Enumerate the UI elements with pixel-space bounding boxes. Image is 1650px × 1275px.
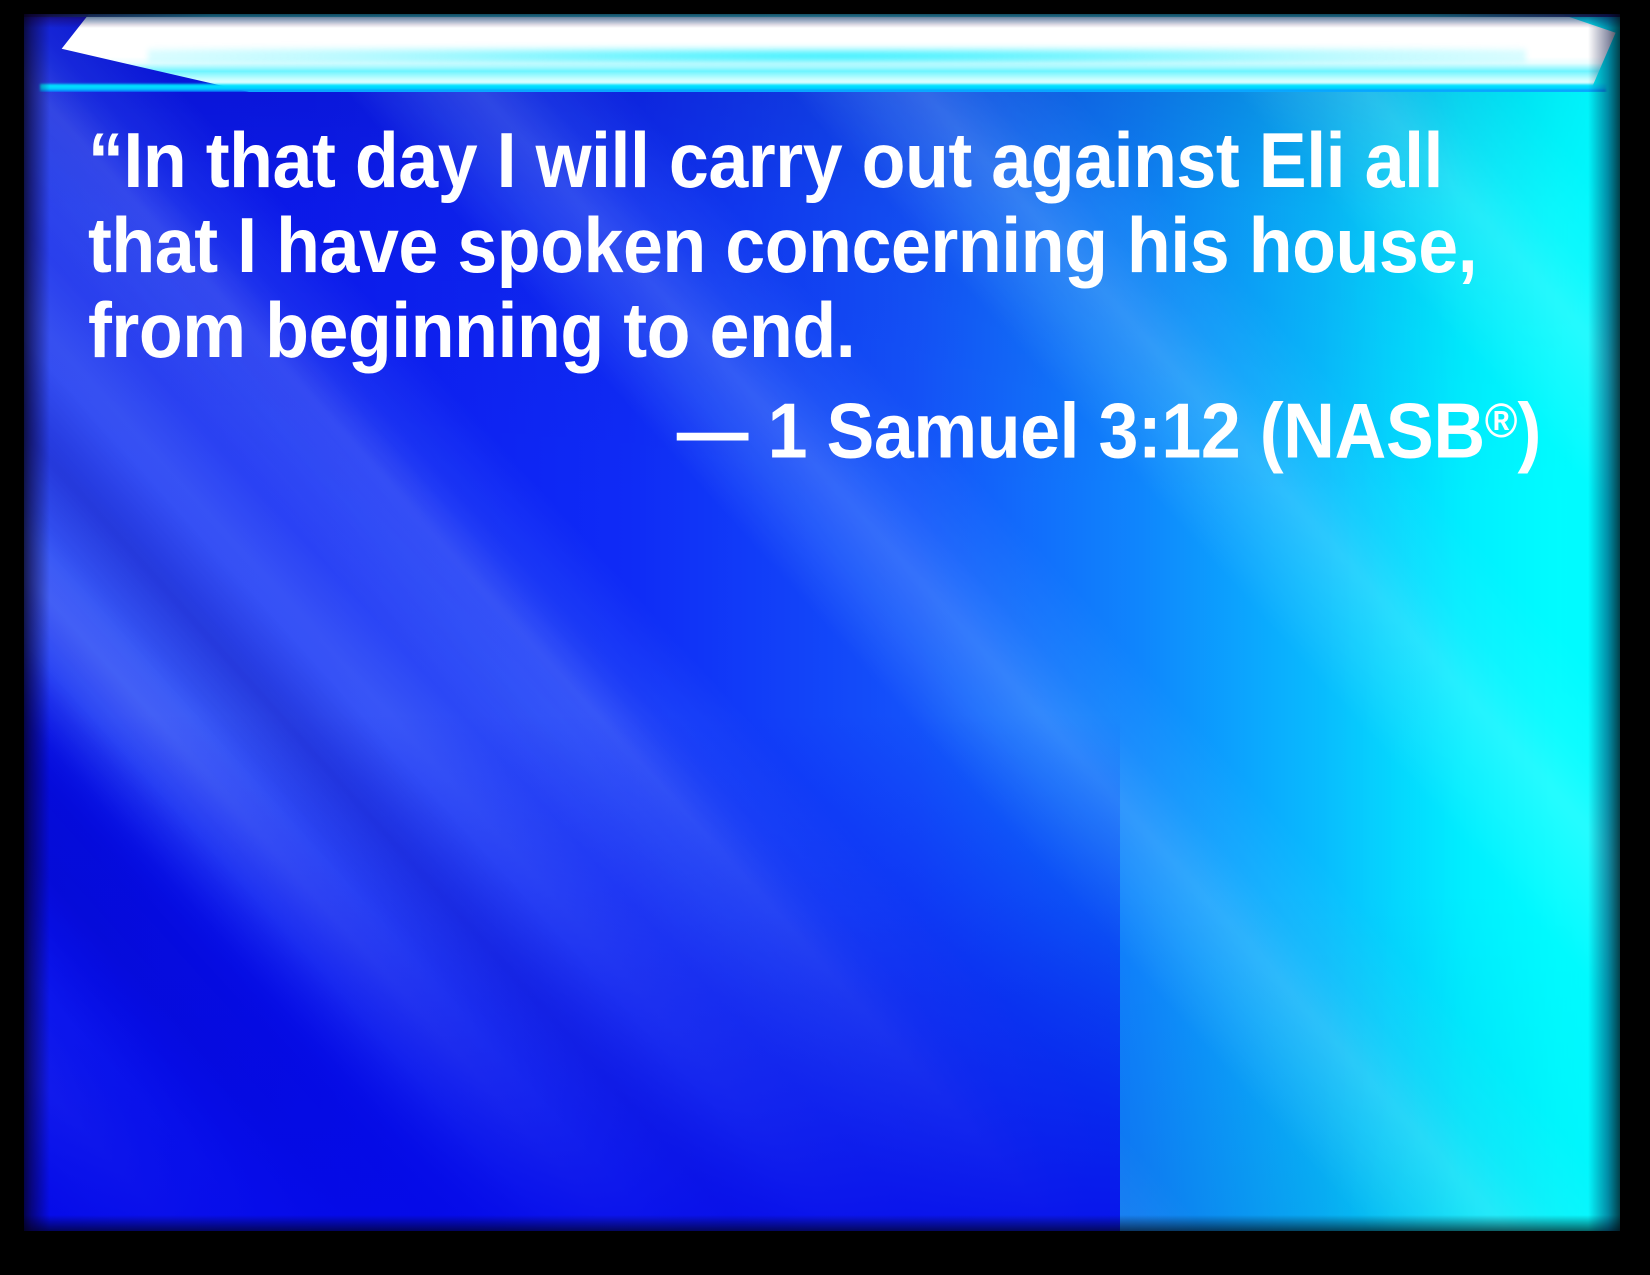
verse-attribution: — 1 Samuel 3:12 (NASB®) — [88, 379, 1422, 473]
frame-border-bottom — [0, 1231, 1650, 1275]
registered-trademark-icon: ® — [1485, 394, 1518, 448]
frame-border-right — [1620, 0, 1650, 1275]
scripture-slide: “In that day I will carry out against El… — [0, 0, 1650, 1275]
top-banner-top-edge — [20, 12, 1622, 17]
verse-line-3: from beginning to end. — [88, 288, 1422, 373]
verse-line-2: that I have spoken concerning his house, — [88, 203, 1422, 288]
attribution-translation-close: ) — [1517, 386, 1540, 474]
top-banner-bottom-edge — [40, 84, 1606, 92]
verse-text-block: “In that day I will carry out against El… — [88, 118, 1422, 473]
attribution-dash: — — [677, 386, 748, 474]
lower-left-blue-fade — [20, 714, 1120, 1234]
top-banner — [20, 12, 1622, 92]
attribution-translation-open: (NASB — [1260, 386, 1485, 474]
top-banner-cyan-haze — [148, 47, 1526, 65]
attribution-reference: 1 Samuel 3:12 — [768, 386, 1241, 474]
verse-line-1: “In that day I will carry out against El… — [88, 118, 1422, 203]
